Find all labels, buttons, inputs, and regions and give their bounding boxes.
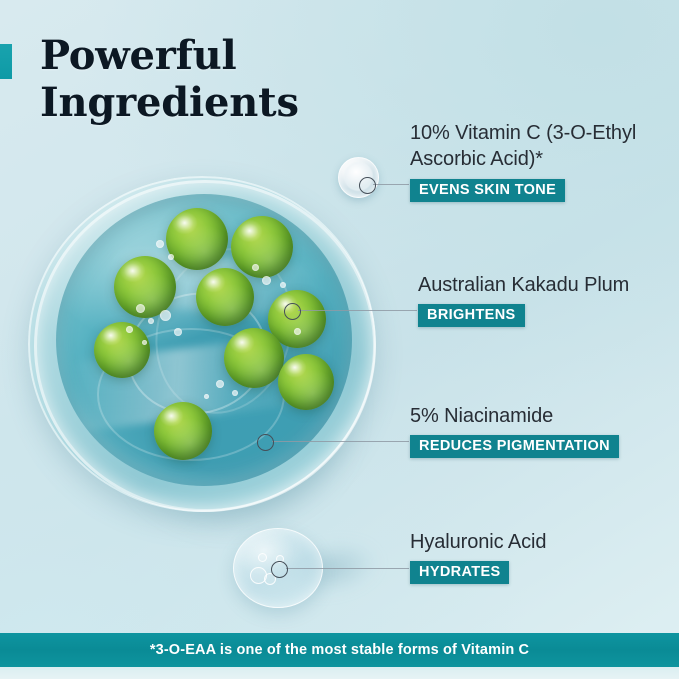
ingredient-item-niacinamide: 5% Niacinamide REDUCES PIGMENTATION [410,403,672,458]
ingredient-name: 10% Vitamin C (3-O-Ethyl Ascorbic Acid)* [410,120,675,173]
page-title-line-2: Ingredients [40,80,370,127]
ingredient-item-kakadu-plum: Australian Kakadu Plum BRIGHTENS [418,272,673,327]
water-droplet [258,553,267,562]
connector-node-vitamin-c [359,177,376,194]
connector-node-kakadu-plum [284,303,301,320]
petri-dish-rim [34,180,376,512]
footer-bar: *3-O-EAA is one of the most stable forms… [0,633,679,667]
page-title: Powerful Ingredients [40,33,370,127]
connector-line-niacinamide [272,441,409,442]
ingredient-benefit-badge: EVENS SKIN TONE [410,179,565,202]
accent-bar [0,44,12,79]
page-title-line-1: Powerful [40,33,370,80]
ingredient-name: Hyaluronic Acid [410,529,665,555]
ingredient-benefit-badge: HYDRATES [410,561,509,584]
connector-line-vitamin-c [373,184,409,185]
connector-line-hyaluronic-acid [286,568,409,569]
ingredient-name: Australian Kakadu Plum [418,272,673,298]
connector-line-kakadu-plum [298,310,417,311]
ingredient-benefit-badge: REDUCES PIGMENTATION [410,435,619,458]
connector-node-hyaluronic-acid [271,561,288,578]
ingredient-name: 5% Niacinamide [410,403,672,429]
infographic-canvas: Powerful Ingredients [0,0,679,679]
footer-disclaimer: *3-O-EAA is one of the most stable forms… [150,642,529,658]
footer-underline [0,667,679,679]
ingredient-item-hyaluronic-acid: Hyaluronic Acid HYDRATES [410,529,665,584]
ingredient-item-vitamin-c: 10% Vitamin C (3-O-Ethyl Ascorbic Acid)*… [410,120,675,202]
ingredient-benefit-badge: BRIGHTENS [418,304,525,327]
connector-node-niacinamide [257,434,274,451]
